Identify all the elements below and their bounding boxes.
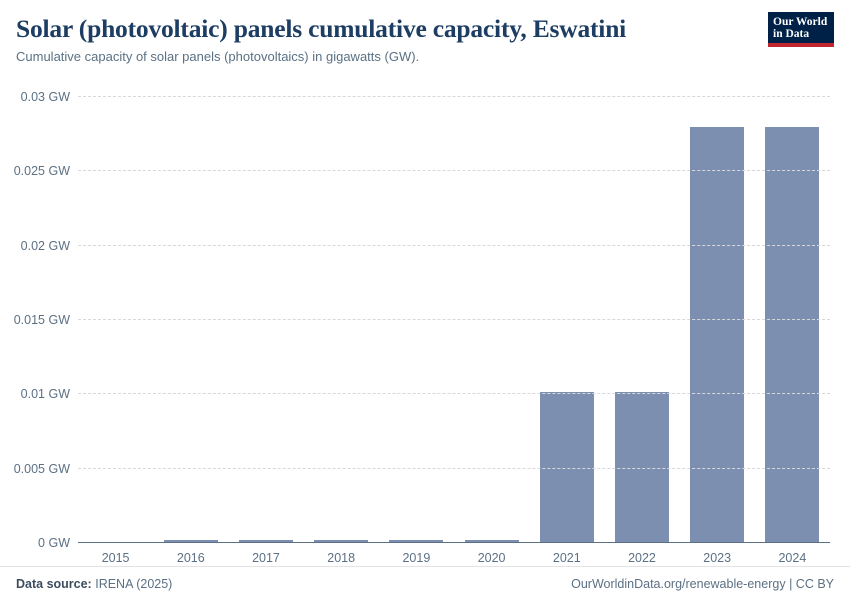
- license-link[interactable]: CC BY: [796, 577, 834, 591]
- chart-footer: Data source: IRENA (2025) OurWorldinData…: [0, 566, 850, 600]
- bar-chart: 2015201620172018201920202021202220232024…: [0, 82, 850, 552]
- x-axis-tick-label: 2024: [755, 551, 830, 565]
- logo-red-bar: [768, 43, 834, 47]
- logo-line-1: Our World: [773, 16, 827, 28]
- x-axis-tick-label: 2021: [529, 551, 604, 565]
- y-axis-tick-label: 0.01 GW: [21, 387, 70, 401]
- y-axis-tick-label: 0 GW: [38, 536, 70, 550]
- data-source: Data source: IRENA (2025): [16, 577, 571, 591]
- x-axis-tick-label: 2019: [379, 551, 454, 565]
- x-axis-tick-label: 2022: [604, 551, 679, 565]
- y-axis-tick-label: 0.005 GW: [14, 462, 70, 476]
- x-axis-tick-label: 2017: [228, 551, 303, 565]
- our-world-in-data-logo[interactable]: Our World in Data: [768, 12, 834, 47]
- x-axis-tick-label: 2018: [304, 551, 379, 565]
- gridline: 0.02 GW: [78, 245, 830, 246]
- x-axis-tick-label: 2015: [78, 551, 153, 565]
- bar[interactable]: [690, 127, 744, 542]
- plot-area: 2015201620172018201920202021202220232024…: [78, 96, 830, 542]
- data-source-value: IRENA (2025): [95, 577, 172, 591]
- gridline: 0.005 GW: [78, 468, 830, 469]
- x-axis-tick-label: 2020: [454, 551, 529, 565]
- footer-separator: |: [789, 577, 792, 591]
- chart-header: Solar (photovoltaic) panels cumulative c…: [0, 0, 850, 66]
- axis-baseline: 0 GW: [78, 542, 830, 543]
- y-axis-tick-label: 0.015 GW: [14, 313, 70, 327]
- gridline: 0.025 GW: [78, 170, 830, 171]
- gridline: 0.03 GW: [78, 96, 830, 97]
- x-axis-tick-label: 2016: [153, 551, 228, 565]
- logo-line-2: in Data: [773, 28, 829, 40]
- y-axis-tick-label: 0.03 GW: [21, 90, 70, 104]
- y-axis-tick-label: 0.02 GW: [21, 239, 70, 253]
- gridline: 0.01 GW: [78, 393, 830, 394]
- bar[interactable]: [765, 127, 819, 542]
- footer-links: OurWorldinData.org/renewable-energy | CC…: [571, 577, 834, 591]
- y-axis-tick-label: 0.025 GW: [14, 164, 70, 178]
- data-source-label: Data source:: [16, 577, 92, 591]
- chart-subtitle: Cumulative capacity of solar panels (pho…: [16, 49, 834, 66]
- x-axis-tick-label: 2023: [680, 551, 755, 565]
- page-title: Solar (photovoltaic) panels cumulative c…: [16, 14, 834, 43]
- gridline: 0.015 GW: [78, 319, 830, 320]
- owid-url-link[interactable]: OurWorldinData.org/renewable-energy: [571, 577, 785, 591]
